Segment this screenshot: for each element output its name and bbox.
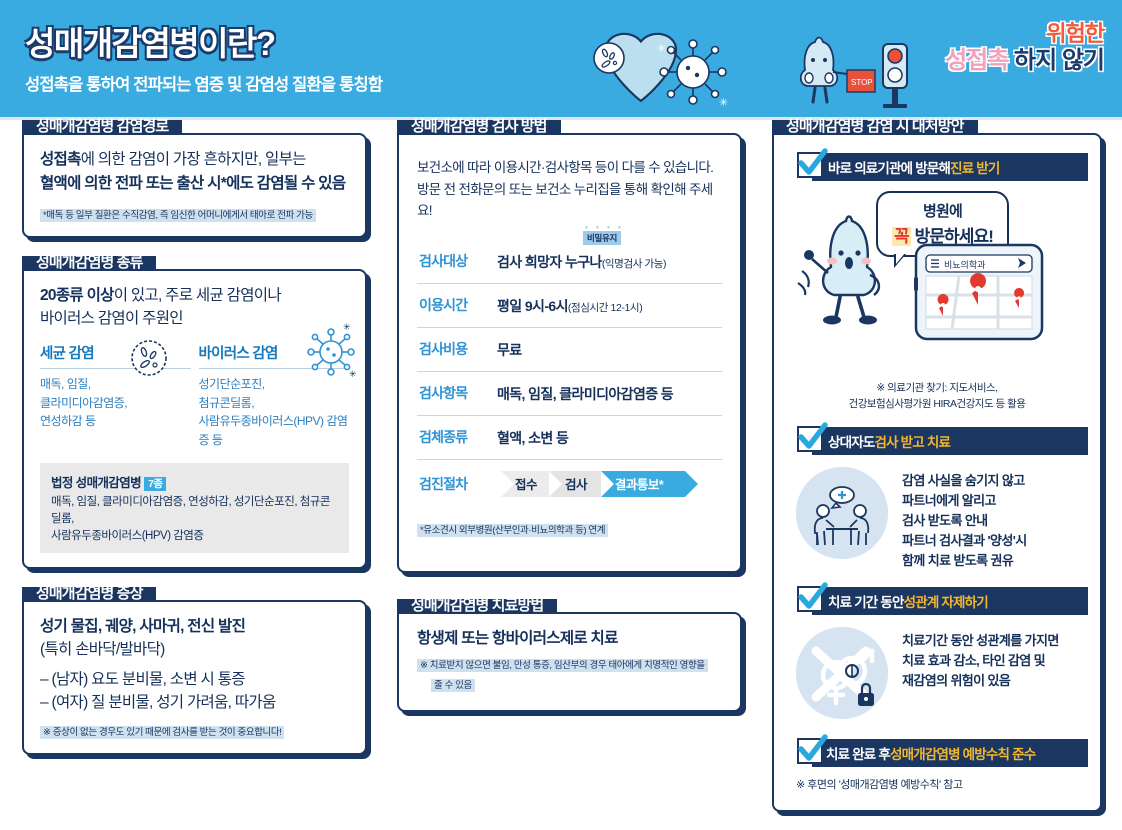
svg-text:✳: ✳: [349, 369, 357, 378]
table-row-process: 검진절차 접수 검사 결과통보*: [417, 460, 722, 508]
card-symptoms: 성매개감염병 증상 성기 물집, 궤양, 사마귀, 전신 발진 (특히 손바닥/…: [22, 587, 367, 755]
test-label-process: 검진절차: [419, 474, 497, 494]
types-viral-group: 바이러스 감염 성기단순포진, 첨규콘딜롬, 사람유두종바이러스(HPV) 감염…: [199, 342, 350, 449]
check-icon: [794, 147, 828, 186]
types-lead-bold: 20종류 이상: [40, 287, 114, 304]
action-4-label: 치료 완료 후: [826, 743, 890, 763]
card-sti-types: 성매개감염병 종류 20종류 이상이 있고, 주로 세균 감염이나 바이러스 감…: [22, 256, 367, 569]
action-2-highlight: 검사 받고 치료: [874, 431, 950, 451]
test-value-items: 매독, 임질, 클라미디아감염증 등: [497, 383, 673, 404]
test-label-specimen: 검체종류: [419, 427, 497, 447]
symptoms-line2: (특히 손바닥/발바닥): [40, 639, 349, 661]
test-sub-hours: (점심시간 12-1시): [568, 302, 642, 314]
route-footnote: *매독 등 일부 질환은 수직감염, 즉 임신한 어머니에게서 태아로 전파 가…: [40, 209, 316, 222]
card-tab-route: 성매개감염병 감염경로: [22, 120, 182, 135]
card-tab-types: 성매개감염병 종류: [22, 256, 156, 271]
content-columns: 성매개감염병 감염경로 성접촉에 의한 감염이 가장 흔하지만, 일부는 혈액에…: [0, 120, 1122, 793]
legal-sti-box: 법정 성매개감염병7종 매독, 임질, 클라미디아감염증, 연성하감, 성기단순…: [40, 463, 349, 553]
check-icon: [794, 421, 828, 460]
right-column: 성매개감염병 감염 시 대처방안 바로 의료기관에 방문해 진료 받기: [772, 120, 1102, 830]
test-value-hours-text: 평일 9시-6시: [497, 298, 568, 314]
treatment-headline: 항생제 또는 항바이러스제로 치료: [417, 628, 722, 650]
card-tab-symptoms: 성매개감염병 증상: [22, 587, 156, 602]
symptoms-male: – (남자) 요도 분비물, 소변 시 통증: [40, 669, 349, 691]
legal-title-text: 법정 성매개감염병: [51, 476, 141, 490]
action-4: 치료 완료 후 성매개감염병 예방수칙 준수: [786, 739, 1088, 767]
card-treatment-method: 성매개감염병 치료방법 항생제 또는 항바이러스제로 치료 ※ 치료받지 않으면…: [397, 599, 742, 712]
slogan-sexual-contact: 성접촉: [945, 47, 1008, 74]
page-header: 성매개감염병이란? 성접촉을 통하여 전파되는 염증 및 감염성 질환을 통칭함: [0, 0, 1122, 120]
action-3-label: 치료 기간 동안: [828, 591, 904, 611]
route-line1-bold: 성접촉: [40, 151, 81, 168]
svg-text:✳: ✳: [657, 43, 666, 55]
virus-icon: ✳ ✳: [299, 320, 359, 383]
hospital-finder-note: ※ 의료기관 찾기: 지도서비스, 건강보험심사평가원 HIRA건강지도 등 활…: [786, 381, 1088, 413]
types-viral-list: 성기단순포진, 첨규콘딜롬, 사람유두종바이러스(HPV) 감염증 등: [199, 375, 350, 449]
svg-text:✳: ✳: [343, 322, 351, 332]
flow-step-result: 결과통보*: [601, 471, 685, 497]
card-tab-test-method: 성매개감염병 검사 방법: [397, 120, 561, 135]
test-label-target: 검사대상: [419, 251, 497, 271]
privacy-badge: 비밀유지: [583, 231, 621, 245]
check-icon: [794, 581, 828, 620]
test-info-table: 검사대상 • • • • 비밀유지 검사 희망자 누구나(익명검사 가능) 이용…: [417, 240, 722, 539]
flow-footnote: *유소견시 외부병원(산부인과·비뇨의학과 등) 연계: [417, 524, 608, 537]
hospital-visit-illustration: 병원에 꼭 방문하세요!: [786, 187, 1088, 377]
middle-column: 성매개감염병 검사 방법 보건소에 따라 이용시간·검사항목 등이 다를 수 있…: [397, 120, 742, 730]
table-row: 검사비용 무료: [417, 328, 722, 372]
test-sub-target: (익명검사 가능): [602, 258, 666, 270]
action-2: 상대자도 검사 받고 치료: [786, 427, 1088, 455]
test-intro-line2: 방문 전 전화문의 또는 보건소 누리집을 통해 확인해 주세요!: [417, 179, 722, 222]
legal-disease-list: 매독, 임질, 클라미디아감염증, 연성하감, 성기단순포진, 첨규콘딜롬, 사…: [51, 494, 338, 544]
test-value-target-text: 검사 희망자 누구나: [497, 254, 602, 270]
action-2-body: 감염 사실을 숨기지 않고 파트너에게 알리고 검사 받도록 안내 파트너 검사…: [902, 467, 1027, 572]
types-bacterial-group: 세균 감염 매독, 임질, 클라미디아감염증, 연성하감 등: [40, 342, 191, 449]
test-intro-line1: 보건소에 따라 이용시간·검사항목 등이 다를 수 있습니다.: [417, 157, 722, 179]
page-subtitle: 성접촉을 통하여 전파되는 염증 및 감염성 질환을 통칭함: [25, 71, 382, 95]
action-1-label: 바로 의료기관에 방문해: [828, 157, 950, 177]
check-icon: [794, 733, 828, 772]
route-line1-rest: 에 의한 감염이 가장 흔하지만, 일부는: [81, 151, 306, 168]
treatment-footnote-l2: 줄 수 있음: [431, 679, 475, 692]
types-lead-rest: 이 있고, 주로 세균 감염이나: [114, 287, 281, 304]
legal-count-badge: 7종: [144, 477, 166, 491]
hospital-finder-note-l2: 건강보험심사평가원 HIRA건강지도 등 활용: [786, 397, 1088, 413]
page-title: 성매개감염병이란?: [25, 25, 382, 63]
test-value-specimen: 혈액, 소변 등: [497, 427, 568, 448]
symptoms-footnote: ※ 증상이 없는 경우도 있기 때문에 검사를 받는 것이 중요합니다!: [40, 726, 284, 739]
header-slogan: 위험한 성접촉 하지 않기: [945, 22, 1104, 74]
table-row: 검체종류 혈액, 소변 등: [417, 416, 722, 460]
treatment-footnote-l1: ※ 치료받지 않으면 불임, 만성 통증, 임산부의 경우 태아에게 치명적인 …: [417, 659, 708, 672]
condom-mascot-icon: [794, 213, 904, 338]
action-2-label: 상대자도: [828, 431, 874, 451]
action-4-note: ※ 후면의 '성매개감염병 예방수칙' 참고: [796, 776, 1088, 792]
phone-search-text: 비뇨의학과: [944, 260, 985, 270]
card-transmission-route: 성매개감염병 감염경로 성접촉에 의한 감염이 가장 흔하지만, 일부는 혈액에…: [22, 120, 367, 238]
table-row: 검사대상 • • • • 비밀유지 검사 희망자 누구나(익명검사 가능): [417, 240, 722, 284]
card-tab-treatment: 성매개감염병 치료방법: [397, 599, 557, 614]
card-response-plan: 성매개감염병 감염 시 대처방안 바로 의료기관에 방문해 진료 받기: [772, 120, 1102, 812]
no-sex-gender-icon: [796, 627, 888, 719]
action-1: 바로 의료기관에 방문해 진료 받기: [786, 153, 1088, 181]
bacteria-icon: [129, 338, 169, 383]
phone-map-illustration: 비뇨의학과: [914, 243, 1044, 346]
types-bacterial-list: 매독, 임질, 클라미디아감염증, 연성하감 등: [40, 375, 191, 431]
slogan-danger: 위험한: [945, 22, 1104, 46]
heart-germ-illustration: ✳ ✳: [585, 20, 755, 115]
test-label-cost: 검사비용: [419, 339, 497, 359]
action-3-highlight: 성관계 자제하기: [904, 591, 988, 611]
mascot-stop-illustration: STOP: [785, 30, 945, 115]
table-row: 이용시간 평일 9시-6시(점심시간 12-1시): [417, 284, 722, 328]
partner-counseling-icon: [796, 467, 888, 559]
symptoms-female: – (여자) 질 분비물, 성기 가려움, 따가움: [40, 692, 349, 714]
test-value-cost: 무료: [497, 339, 522, 360]
action-3-body: 치료기간 동안 성관계를 가지면 치료 효과 감소, 타인 감염 및 재감염의 …: [902, 627, 1059, 691]
action-4-highlight: 성매개감염병 예방수칙 준수: [890, 743, 1035, 763]
table-row: 검사항목 매독, 임질, 클라미디아감염증 등: [417, 372, 722, 416]
svg-text:✳: ✳: [719, 97, 728, 109]
card-test-method: 성매개감염병 검사 방법 보건소에 따라 이용시간·검사항목 등이 다를 수 있…: [397, 120, 742, 573]
symptoms-line1: 성기 물집, 궤양, 사마귀, 전신 발진: [40, 616, 349, 638]
card-tab-response-plan: 성매개감염병 감염 시 대처방안: [772, 120, 978, 135]
svg-text:STOP: STOP: [851, 78, 873, 87]
process-flow: 접수 검사 결과통보*: [501, 471, 685, 497]
action-1-highlight: 진료 받기: [950, 157, 999, 177]
action-3: 치료 기간 동안 성관계 자제하기: [786, 587, 1088, 615]
flow-footnote-row: *유소견시 외부병원(산부인과·비뇨의학과 등) 연계: [417, 520, 722, 539]
hospital-finder-note-l1: ※ 의료기관 찾기: 지도서비스,: [786, 381, 1088, 397]
speech-line1: 병원에: [892, 200, 993, 221]
left-column: 성매개감염병 감염경로 성접촉에 의한 감염이 가장 흔하지만, 일부는 혈액에…: [22, 120, 367, 773]
test-value-target: • • • • 비밀유지 검사 희망자 누구나(익명검사 가능): [497, 251, 666, 272]
test-label-hours: 이용시간: [419, 295, 497, 315]
test-label-items: 검사항목: [419, 383, 497, 403]
test-value-hours: 평일 9시-6시(점심시간 12-1시): [497, 295, 642, 316]
route-line2: 혈액에 의한 전파 또는 출산 시*에도 감염될 수 있음: [40, 173, 349, 195]
slogan-avoid: 하지 않기: [1014, 47, 1104, 74]
header-text-block: 성매개감염병이란? 성접촉을 통하여 전파되는 염증 및 감염성 질환을 통칭함: [25, 25, 382, 95]
